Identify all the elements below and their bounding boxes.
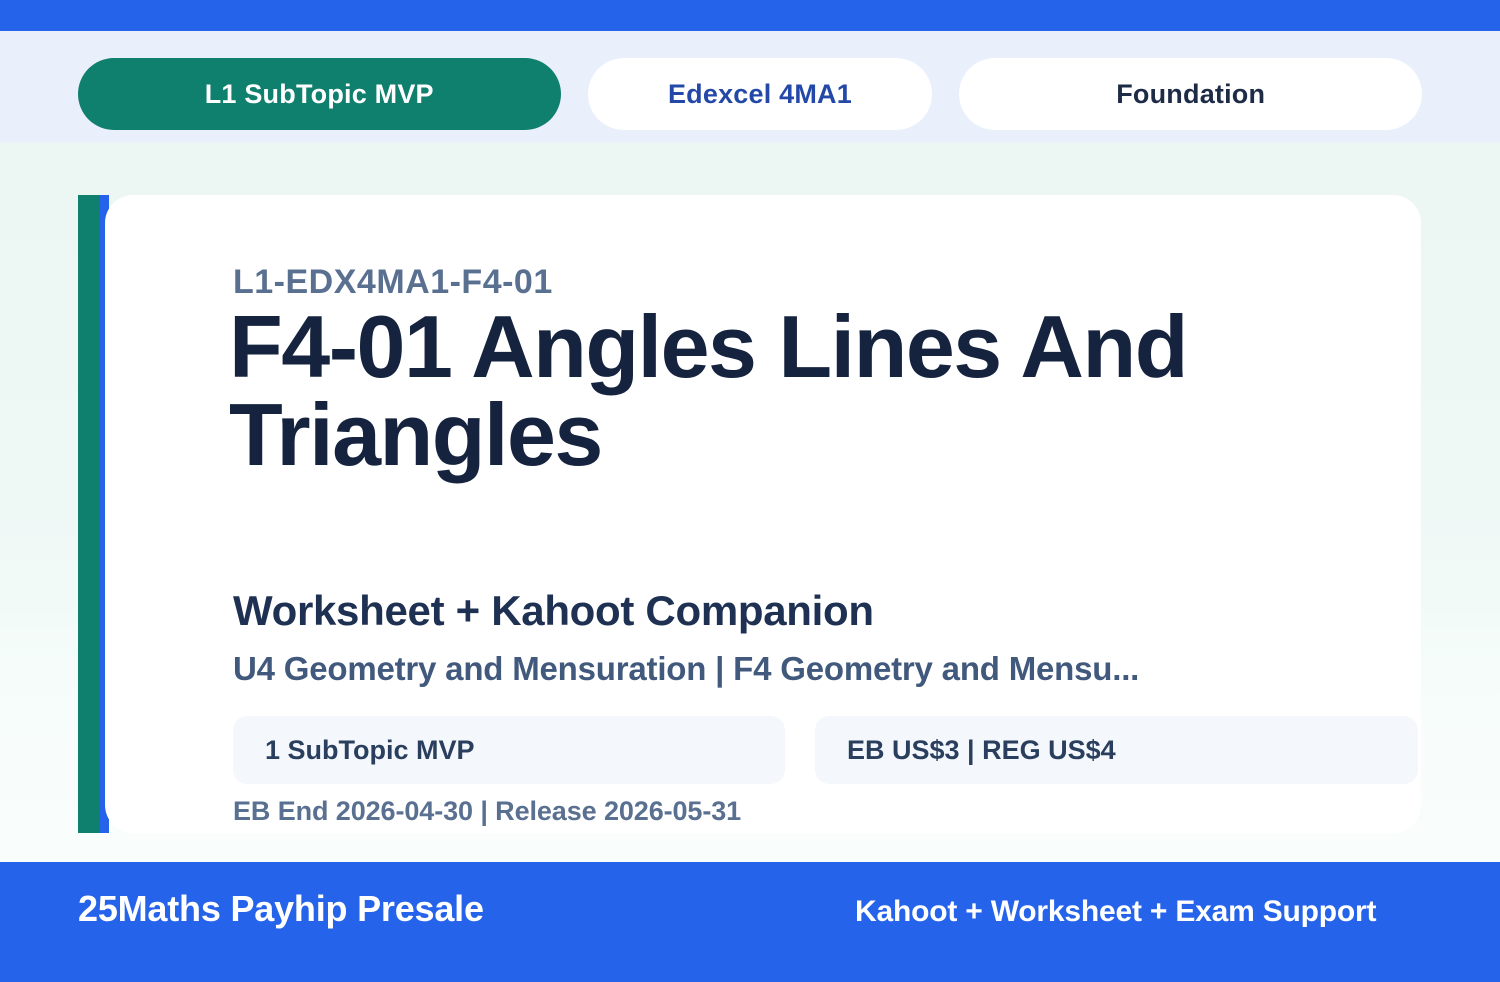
product-subtitle: Worksheet + Kahoot Companion bbox=[233, 587, 874, 635]
product-card-wrapper: L1-EDX4MA1-F4-01 F4-01 Angles Lines And … bbox=[78, 195, 1421, 833]
chip-row: 1 SubTopic MVP EB US$3 | REG US$4 bbox=[233, 716, 1418, 784]
footer-bar: 25Maths Payhip Presale Kahoot + Workshee… bbox=[0, 862, 1500, 982]
top-accent-strip bbox=[0, 0, 1500, 31]
tag-pill-level[interactable]: L1 SubTopic MVP bbox=[78, 58, 561, 130]
breadcrumb: U4 Geometry and Mensuration | F4 Geometr… bbox=[233, 650, 1139, 688]
footer-tagline: Kahoot + Worksheet + Exam Support bbox=[855, 895, 1376, 929]
promo-poster: L1 SubTopic MVP Edexcel 4MA1 Foundation … bbox=[0, 0, 1500, 982]
tag-pill-tier[interactable]: Foundation bbox=[959, 58, 1422, 130]
footer-brand: 25Maths Payhip Presale bbox=[78, 888, 484, 930]
tag-pill-exam-board[interactable]: Edexcel 4MA1 bbox=[588, 58, 933, 130]
status-badge-price: EB US$3 | REG US$4 bbox=[815, 716, 1418, 784]
product-card: L1-EDX4MA1-F4-01 F4-01 Angles Lines And … bbox=[105, 195, 1421, 833]
status-badge-scope: 1 SubTopic MVP bbox=[233, 716, 785, 784]
card-accent-bar-teal bbox=[78, 195, 100, 833]
release-dates: EB End 2026-04-30 | Release 2026-05-31 bbox=[233, 796, 741, 827]
product-card-content: L1-EDX4MA1-F4-01 F4-01 Angles Lines And … bbox=[233, 195, 1418, 833]
page-title: F4-01 Angles Lines And Triangles bbox=[229, 303, 1409, 479]
tag-row: L1 SubTopic MVP Edexcel 4MA1 Foundation bbox=[78, 58, 1422, 130]
